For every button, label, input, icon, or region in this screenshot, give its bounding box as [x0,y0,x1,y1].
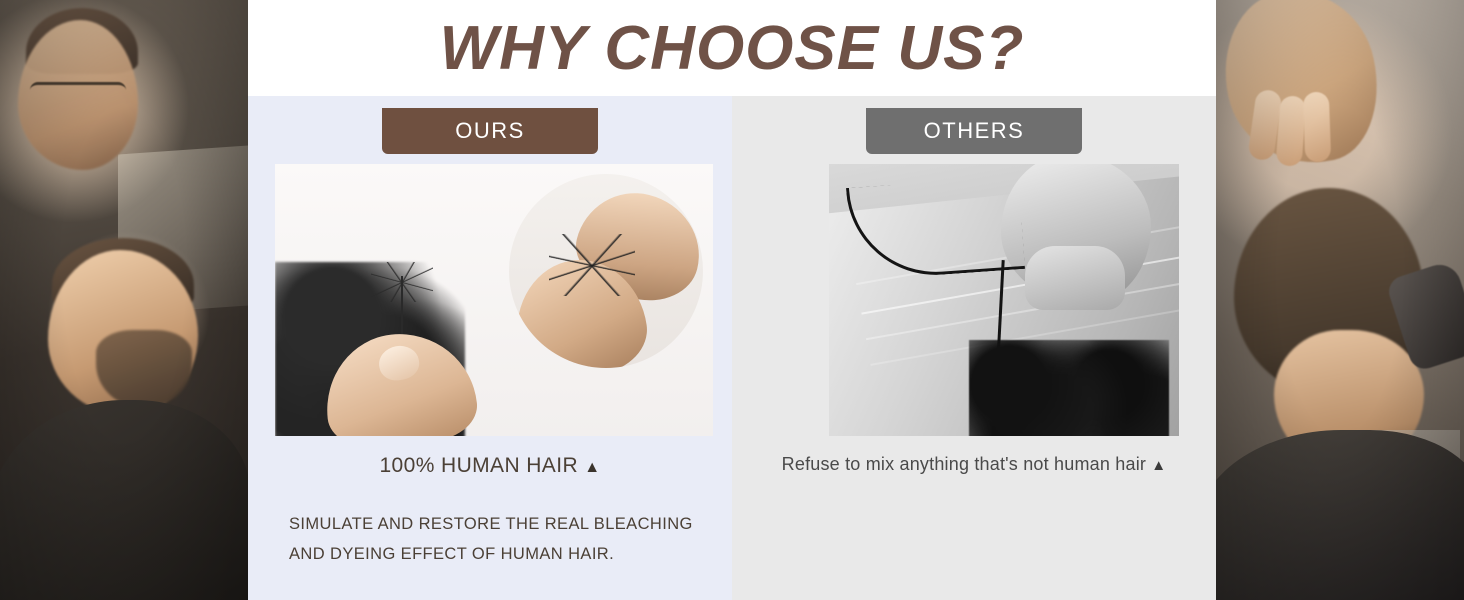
background-photo-left [0,0,248,600]
ours-hair-frizz [371,262,433,302]
title-band: WHY CHOOSE US? [248,0,1216,96]
vignette-right [1216,0,1464,600]
ours-caption-row: 100% HUMAN HAIR ▲ [248,454,732,478]
triangle-up-icon: ▲ [1151,457,1166,474]
ours-zoom-hair-tips [549,234,635,296]
ours-zoom-inset [509,174,703,368]
ours-description: SIMULATE AND RESTORE THE REAL BLEACHING … [289,509,719,569]
badge-others: OTHERS [866,108,1082,154]
ours-caption: 100% HUMAN HAIR [379,454,578,477]
others-fingers [1025,246,1125,310]
badge-ours: OURS [382,108,598,154]
vignette-left [0,0,248,600]
triangle-up-icon: ▲ [584,459,600,476]
column-ours: OURS 100% HUMAN HAIR ▲ [248,96,732,600]
others-hair-curls [969,340,1169,436]
background-photo-right [1216,0,1464,600]
why-choose-us-banner: WHY CHOOSE US? OURS [0,0,1464,600]
column-others: OTHERS Refuse to mix anything that's not… [732,96,1216,600]
page-title: WHY CHOOSE US? [440,13,1025,84]
others-image [829,164,1179,436]
ours-image [275,164,713,436]
others-caption-row: Refuse to mix anything that's not human … [732,454,1216,475]
others-caption: Refuse to mix anything that's not human … [782,454,1146,474]
center-panel: WHY CHOOSE US? OURS [248,0,1216,600]
comparison-columns: OURS 100% HUMAN HAIR ▲ [248,96,1216,600]
